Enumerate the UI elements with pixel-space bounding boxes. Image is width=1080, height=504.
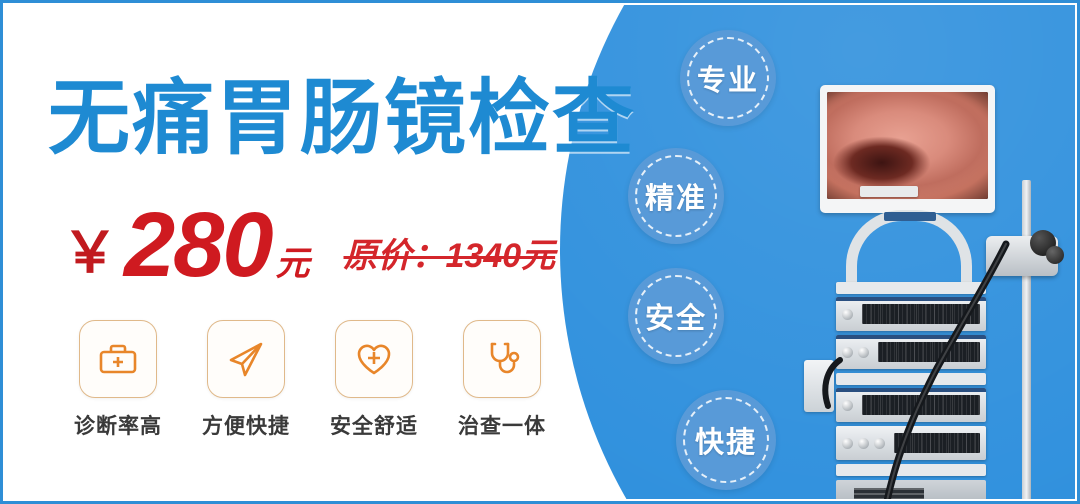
light-source-module: [836, 335, 986, 369]
control-module: [836, 426, 986, 460]
feature-label: 诊断率高: [74, 410, 162, 440]
heart-cross-icon: [335, 320, 413, 398]
feature-list: 诊断率高 方便快捷 安全舒适: [72, 320, 548, 440]
badge-fast: 快捷: [676, 390, 776, 490]
cart-brand-plate: [884, 212, 936, 221]
endoscope-knob: [1046, 246, 1064, 264]
badge-precise: 精准: [628, 148, 724, 244]
badge-safe: 安全: [628, 268, 724, 364]
scope-pole: [1022, 180, 1031, 504]
endoscopic-view-image: [827, 92, 988, 199]
equipment-stack: [836, 282, 986, 504]
side-accessory: [804, 360, 834, 412]
badge-label: 安全: [645, 295, 707, 337]
badge-label: 快捷: [695, 419, 757, 461]
feature-item: 诊断率高: [72, 320, 164, 440]
feature-label: 安全舒适: [330, 410, 418, 440]
monitor-screen: [827, 92, 988, 199]
badge-professional: 专业: [680, 30, 776, 126]
endoscopy-tower-image: [800, 60, 1080, 504]
currency-symbol: ￥: [62, 225, 118, 281]
page-title: 无痛胃肠镜检查: [48, 78, 636, 160]
feature-item: 安全舒适: [328, 320, 420, 440]
video-module: [836, 388, 986, 422]
price-amount: 280: [124, 204, 272, 287]
stethoscope-icon: [463, 320, 541, 398]
paper-plane-icon: [207, 320, 285, 398]
shelf: [836, 282, 986, 294]
medical-kit-icon: [79, 320, 157, 398]
monitor-stand: [860, 186, 918, 197]
cart-base-unit: [836, 480, 986, 504]
badge-label: 专业: [697, 57, 759, 99]
processor-module: [836, 297, 986, 331]
feature-item: 方便快捷: [200, 320, 292, 440]
feature-label: 治查一体: [458, 410, 546, 440]
price-unit: 元: [276, 247, 310, 281]
badge-label: 精准: [645, 175, 707, 217]
price-block: ￥ 280 元 原价：1340元: [62, 204, 555, 287]
feature-item: 治查一体: [456, 320, 548, 440]
shelf: [836, 373, 986, 385]
promo-banner: 无痛胃肠镜检查 ￥ 280 元 原价：1340元 诊断率高: [0, 0, 1080, 504]
cart-arch: [846, 210, 972, 288]
feature-label: 方便快捷: [202, 410, 290, 440]
original-price: 原价：1340元: [344, 239, 556, 273]
shelf: [836, 464, 986, 476]
